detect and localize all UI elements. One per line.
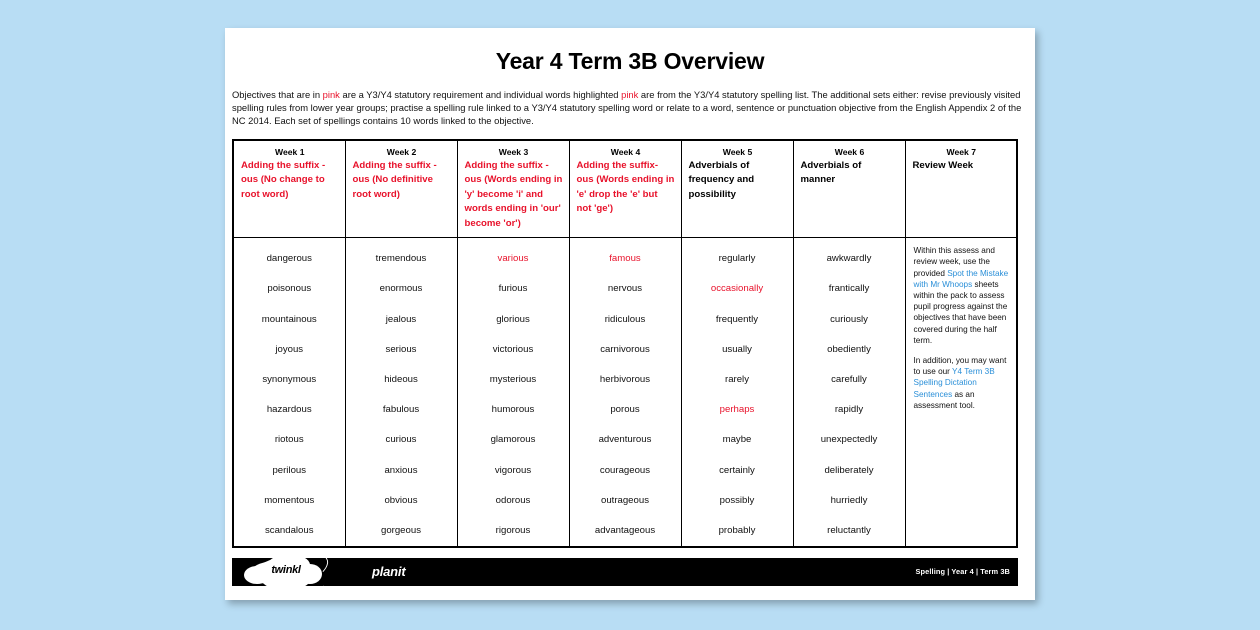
word-list: tremendousenormousjealousserioushideousf… [346,238,457,546]
twinkl-url: twinkl.co.uk [254,587,287,593]
words-week-1: dangerouspoisonousmountainousjoyoussynon… [233,238,345,548]
header-week-7: Week 7 Review Week [905,140,1017,238]
intro-text-2: are a Y3/Y4 statutory requirement and in… [340,89,621,100]
week-objective: Adding the suffix -ous (No definitive ro… [353,159,451,203]
review-text: sheets within the pack to assess pupil p… [914,280,1008,345]
spelling-word: vigorous [460,456,567,486]
word-list: awkwardlyfranticallycuriouslyobedientlyc… [794,238,905,546]
spelling-word: rapidly [796,395,903,425]
header-week-2: Week 2 Adding the suffix -ous (No defini… [345,140,457,238]
spelling-word: glamorous [460,425,567,455]
spelling-word: fabulous [348,395,455,425]
words-week-4: famousnervousridiculouscarnivorousherbiv… [569,238,681,548]
spelling-word: herbivorous [572,365,679,395]
spelling-word: carnivorous [572,335,679,365]
spelling-word: probably [684,516,791,546]
spelling-word: momentous [236,486,343,516]
words-week-2: tremendousenormousjealousserioushideousf… [345,238,457,548]
week-objective: Adverbials of manner [801,159,899,188]
spelling-word: frequently [684,305,791,335]
week-label: Week 1 [241,147,339,157]
spelling-word: hurriedly [796,486,903,516]
spelling-word: usually [684,335,791,365]
header-week-6: Week 6 Adverbials of manner [793,140,905,238]
spelling-word: certainly [684,456,791,486]
spelling-word: glorious [460,305,567,335]
spelling-word: outrageous [572,486,679,516]
spelling-word: rarely [684,365,791,395]
review-paragraph-2: In addition, you may want to use our Y4 … [914,355,1011,411]
star-icon: ✦ [262,550,267,557]
star-icon: ✦ [241,586,248,593]
word-list: dangerouspoisonousmountainousjoyoussynon… [234,238,345,546]
header-week-5: Week 5 Adverbials of frequency and possi… [681,140,793,238]
header-week-1: Week 1 Adding the suffix -ous (No change… [233,140,345,238]
spelling-word: reluctantly [796,516,903,546]
spelling-word: maybe [684,425,791,455]
spelling-word: victorious [460,335,567,365]
spelling-word: perhaps [684,395,791,425]
footer-bar: twinkl ✦ ✦ ✦ ✦ twinkl.co.uk planit Spell… [232,558,1018,586]
spelling-word: nervous [572,274,679,304]
header-week-3: Week 3 Adding the suffix -ous (Words end… [457,140,569,238]
word-list: famousnervousridiculouscarnivorousherbiv… [570,238,681,546]
spelling-word: awkwardly [796,244,903,274]
spelling-word: curious [348,425,455,455]
spelling-word: mysterious [460,365,567,395]
overview-table: Week 1 Adding the suffix -ous (No change… [232,139,1018,549]
review-week-notes: Within this assess and review week, use … [905,238,1017,548]
planit-wordmark: planit [372,564,405,579]
spelling-word: obvious [348,486,455,516]
spelling-word: unexpectedly [796,425,903,455]
document-page: Year 4 Term 3B Overview Objectives that … [225,28,1035,600]
table-header-row: Week 1 Adding the suffix -ous (No change… [233,140,1017,238]
spelling-word: serious [348,335,455,365]
spelling-word: perilous [236,456,343,486]
header-week-4: Week 4 Adding the suffix-ous (Words endi… [569,140,681,238]
words-week-5: regularlyoccasionallyfrequentlyusuallyra… [681,238,793,548]
spelling-word: furious [460,274,567,304]
spelling-word: carefully [796,365,903,395]
spelling-word: regularly [684,244,791,274]
intro-paragraph: Objectives that are in pink are a Y3/Y4 … [232,88,1028,128]
week-label: Week 5 [689,147,787,157]
spelling-word: possibly [684,486,791,516]
spelling-word: riotous [236,425,343,455]
week-objective: Adding the suffix -ous (No change to roo… [241,159,339,203]
spelling-word: advantageous [572,516,679,546]
spelling-word: courageous [572,456,679,486]
spelling-word: scandalous [236,516,343,546]
week-objective: Adding the suffix -ous (Words ending in … [465,159,563,232]
week-label: Week 4 [577,147,675,157]
word-list: variousfuriousgloriousvictoriousmysterio… [458,238,569,546]
spelling-word: famous [572,244,679,274]
spelling-word: hideous [348,365,455,395]
spelling-word: deliberately [796,456,903,486]
intro-text-1: Objectives that are in [232,89,323,100]
week-objective: Adding the suffix-ous (Words ending in '… [577,159,675,217]
spelling-word: hazardous [236,395,343,425]
spelling-word: frantically [796,274,903,304]
spelling-word: occasionally [684,274,791,304]
word-list: regularlyoccasionallyfrequentlyusuallyra… [682,238,793,546]
words-week-3: variousfuriousgloriousvictoriousmysterio… [457,238,569,548]
spelling-word: mountainous [236,305,343,335]
spelling-word: enormous [348,274,455,304]
week-label: Week 2 [353,147,451,157]
spelling-word: anxious [348,456,455,486]
spelling-word: curiously [796,305,903,335]
week-label: Week 3 [465,147,563,157]
intro-pink-2: pink [621,89,638,100]
spelling-word: jealous [348,305,455,335]
star-icon: ✦ [308,551,313,558]
week-label: Week 6 [801,147,899,157]
spelling-word: humorous [460,395,567,425]
week-label: Week 7 [913,147,1011,157]
spelling-word: adventurous [572,425,679,455]
spelling-word: rigorous [460,516,567,546]
twinkl-wordmark: twinkl [256,564,316,576]
spelling-word: gorgeous [348,516,455,546]
star-icon: ✦ [320,585,327,592]
page-title: Year 4 Term 3B Overview [225,48,1035,75]
twinkl-logo[interactable]: twinkl ✦ ✦ ✦ ✦ twinkl.co.uk [232,550,384,596]
spelling-word: dangerous [236,244,343,274]
week-objective: Adverbials of frequency and possibility [689,159,787,203]
spelling-word: poisonous [236,274,343,304]
spelling-word: ridiculous [572,305,679,335]
spelling-word: synonymous [236,365,343,395]
words-week-6: awkwardlyfranticallycuriouslyobedientlyc… [793,238,905,548]
spelling-word: various [460,244,567,274]
week-objective: Review Week [913,159,1011,174]
spelling-word: porous [572,395,679,425]
footer-meta-label: Spelling | Year 4 | Term 3B [916,567,1010,576]
intro-pink-1: pink [323,89,340,100]
spelling-word: tremendous [348,244,455,274]
table-words-row: dangerouspoisonousmountainousjoyoussynon… [233,238,1017,548]
spelling-word: obediently [796,335,903,365]
review-paragraph-1: Within this assess and review week, use … [914,245,1011,346]
spelling-word: odorous [460,486,567,516]
spelling-word: joyous [236,335,343,365]
